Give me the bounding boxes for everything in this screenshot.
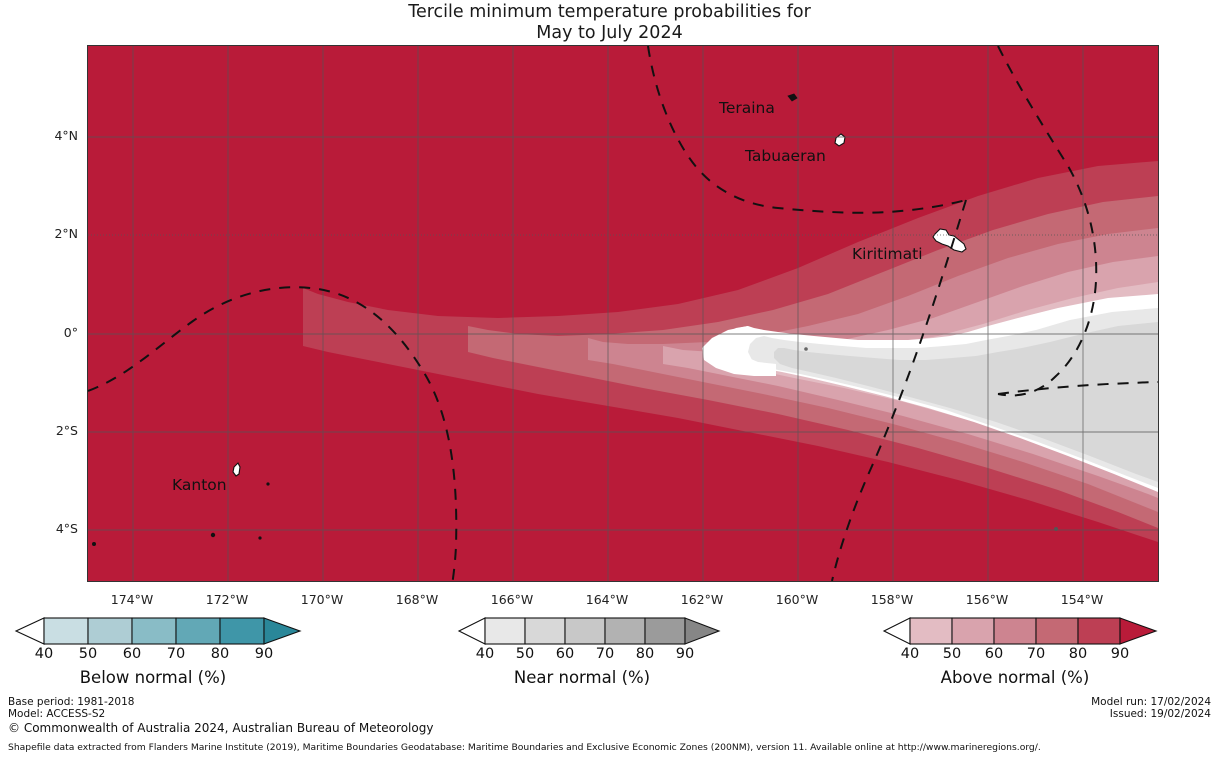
cb-above-70-80 [1036, 618, 1078, 644]
colorbar-near-normal: 40 50 60 70 80 90 Near normal (%) [455, 614, 765, 652]
cb-above-50-60 [952, 618, 994, 644]
cb-below-tick-80: 80 [200, 646, 240, 662]
cb-above-tick-50: 50 [932, 646, 972, 662]
islet-marker [92, 542, 96, 546]
figure: Tercile minimum temperature probabilitie… [0, 0, 1219, 758]
cb-below-tick-40: 40 [24, 646, 64, 662]
map-label-kiritimati: Kiritimati [852, 245, 923, 263]
cb-near-tick-50: 50 [505, 646, 545, 662]
cb-near-tick-40: 40 [465, 646, 505, 662]
cb-below-underflow [16, 618, 44, 644]
x-tick-166w: 166°W [472, 592, 552, 607]
islet-marker [211, 533, 215, 537]
y-tick-0: 0° [18, 325, 78, 340]
title-line-1: Tercile minimum temperature probabilitie… [0, 2, 1219, 23]
cb-above-tick-60: 60 [974, 646, 1014, 662]
cb-below-40-50 [44, 618, 88, 644]
cb-above-tick-70: 70 [1016, 646, 1056, 662]
cb-below-80-90 [220, 618, 264, 644]
cb-below-60-70 [132, 618, 176, 644]
x-tick-170w: 170°W [282, 592, 362, 607]
islet-marker [266, 482, 269, 485]
cb-near-80-90 [645, 618, 685, 644]
x-tick-164w: 164°W [567, 592, 647, 607]
cb-above-title: Above normal (%) [870, 668, 1160, 687]
x-tick-156w: 156°W [947, 592, 1027, 607]
cb-near-50-60 [525, 618, 565, 644]
y-tick-4s: 4°S [18, 521, 78, 536]
footer-base-period: Base period: 1981-2018 [8, 696, 134, 709]
chart-title: Tercile minimum temperature probabilitie… [0, 2, 1219, 44]
cb-above-60-70 [994, 618, 1036, 644]
cb-near-underflow [459, 618, 485, 644]
cb-below-tick-50: 50 [68, 646, 108, 662]
colorbar-below-normal-swatches [8, 614, 348, 648]
x-tick-162w: 162°W [662, 592, 742, 607]
y-tick-2s: 2°S [18, 423, 78, 438]
title-line-2: May to July 2024 [0, 23, 1219, 44]
islet-marker [804, 347, 808, 351]
cb-below-50-60 [88, 618, 132, 644]
colorbar-above-normal-swatches [880, 614, 1200, 648]
colorbar-below-normal: 40 50 60 70 80 90 Below normal (%) [8, 614, 348, 652]
map-label-kanton: Kanton [172, 476, 227, 494]
cb-near-60-70 [565, 618, 605, 644]
cb-below-tick-90: 90 [244, 646, 284, 662]
cb-near-tick-80: 80 [625, 646, 665, 662]
cb-below-tick-60: 60 [112, 646, 152, 662]
cb-above-tick-90: 90 [1100, 646, 1140, 662]
y-tick-4n: 4°N [18, 128, 78, 143]
cb-below-70-80 [176, 618, 220, 644]
map-plot-area: Teraina Tabuaeran Kiritimati Kanton [87, 45, 1159, 582]
cb-below-overflow [264, 618, 300, 644]
colorbar-above-normal: 40 50 60 70 80 90 Above normal (%) [880, 614, 1200, 652]
footer-shapefile-credit: Shapefile data extracted from Flanders M… [8, 742, 1041, 753]
footer-model: Model: ACCESS-S2 [8, 708, 105, 721]
cb-near-tick-90: 90 [665, 646, 705, 662]
footer-copyright: © Commonwealth of Australia 2024, Austra… [8, 721, 433, 735]
cb-below-title: Below normal (%) [8, 668, 298, 687]
cb-near-overflow [685, 618, 719, 644]
y-tick-2n: 2°N [18, 226, 78, 241]
x-tick-160w: 160°W [757, 592, 837, 607]
cb-near-40-50 [485, 618, 525, 644]
cb-above-overflow [1120, 618, 1156, 644]
islet-marker [258, 536, 261, 539]
colorbar-near-normal-swatches [455, 614, 765, 648]
x-tick-168w: 168°W [377, 592, 457, 607]
x-tick-174w: 174°W [92, 592, 172, 607]
cb-below-tick-70: 70 [156, 646, 196, 662]
cb-above-40-50 [910, 618, 952, 644]
cb-near-tick-70: 70 [585, 646, 625, 662]
cb-above-80-90 [1078, 618, 1120, 644]
cb-near-tick-60: 60 [545, 646, 585, 662]
cb-above-tick-40: 40 [890, 646, 930, 662]
footer-model-run: Model run: 17/02/2024 [1091, 696, 1211, 709]
x-tick-154w: 154°W [1042, 592, 1122, 607]
x-tick-172w: 172°W [187, 592, 267, 607]
cb-near-title: Near normal (%) [437, 668, 727, 687]
map-label-teraina: Teraina [718, 99, 775, 117]
x-tick-158w: 158°W [852, 592, 932, 607]
map-label-tabuaeran: Tabuaeran [744, 147, 826, 165]
probability-contour-map: Teraina Tabuaeran Kiritimati Kanton [88, 46, 1158, 581]
cb-above-underflow [884, 618, 910, 644]
cb-near-70-80 [605, 618, 645, 644]
cb-above-tick-80: 80 [1058, 646, 1098, 662]
footer-issued: Issued: 19/02/2024 [1110, 708, 1211, 721]
